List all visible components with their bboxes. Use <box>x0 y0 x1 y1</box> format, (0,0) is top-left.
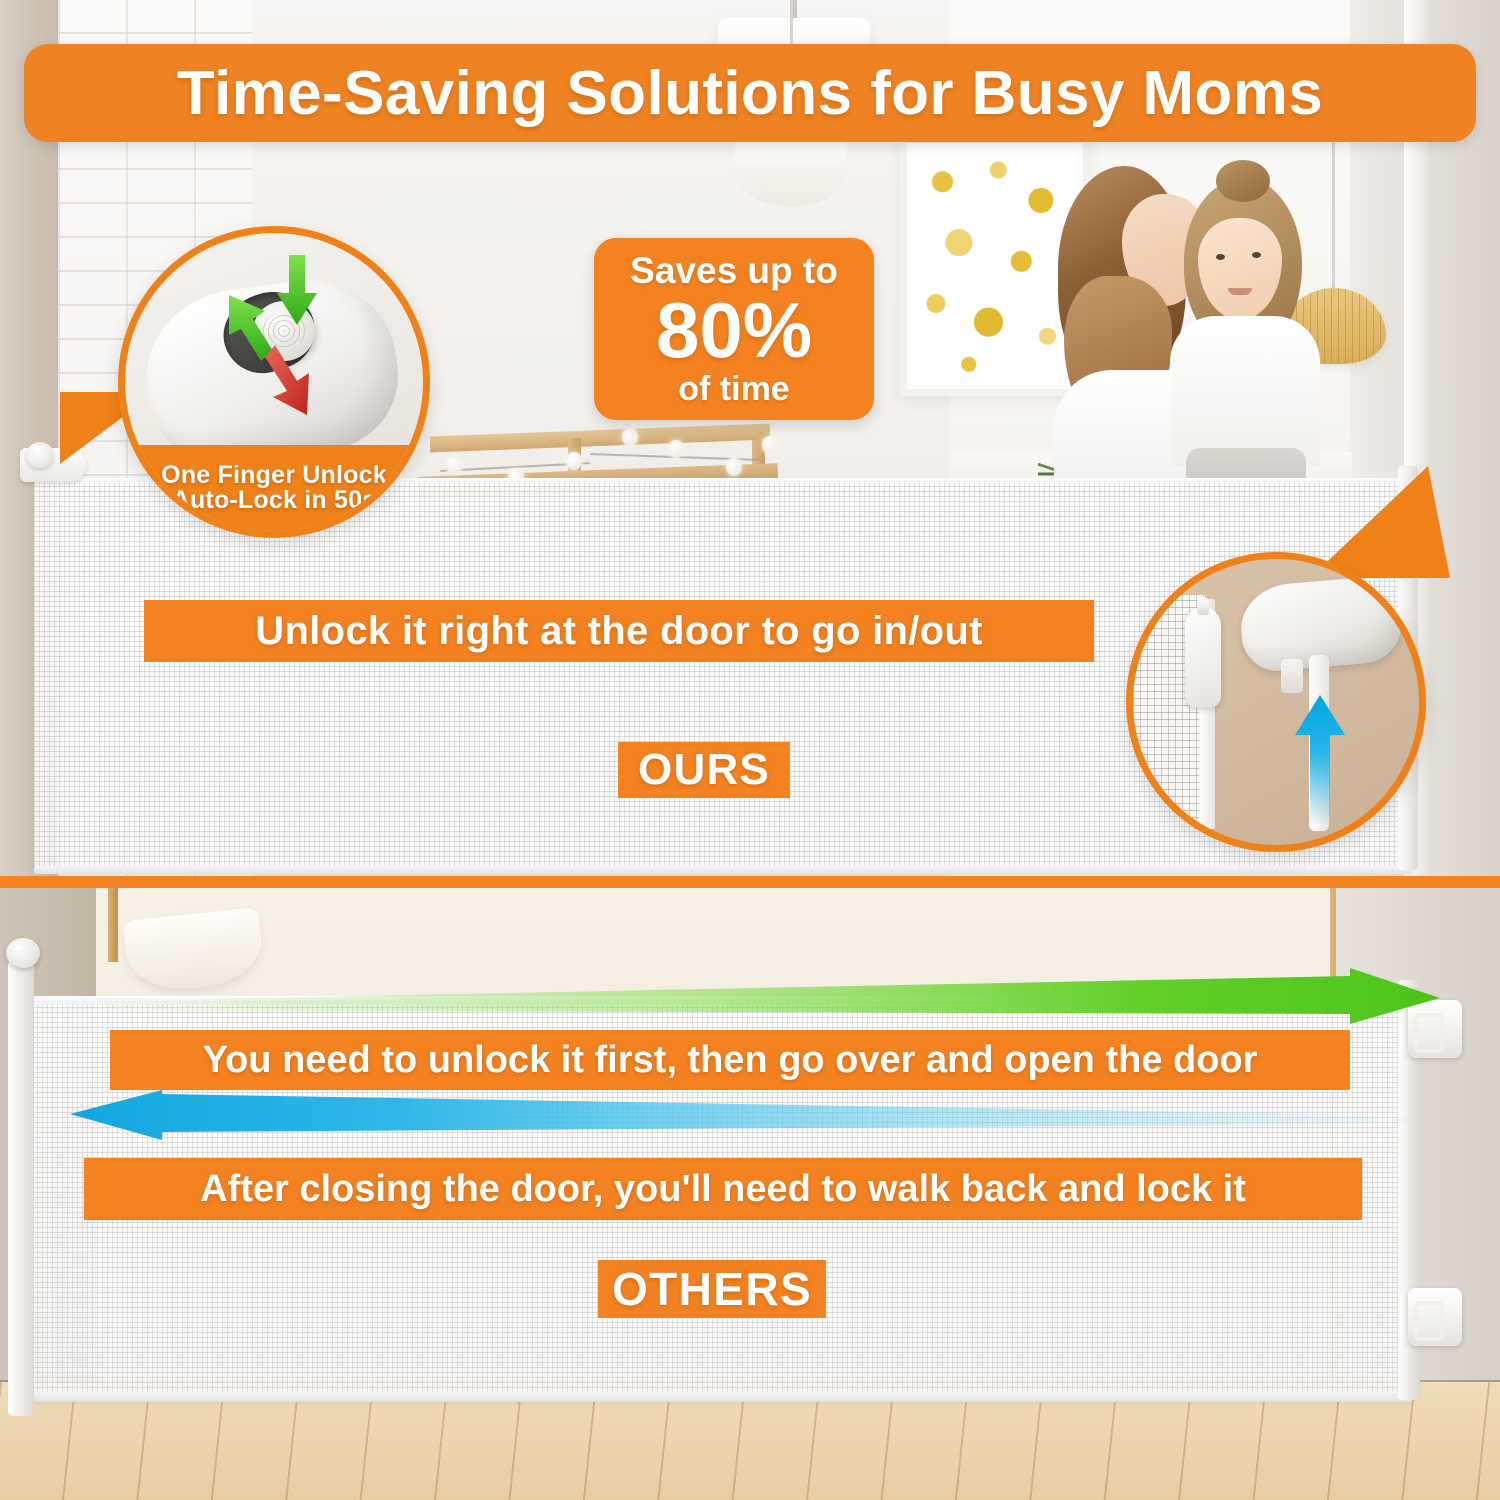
one-finger-unlock-callout: One Finger Unlock Auto-Lock in 50s <box>118 226 430 538</box>
lock-callout-line1: One Finger Unlock <box>161 463 387 489</box>
savings-badge-bottom: of time <box>678 372 789 406</box>
others-gate-bottom-rail <box>22 1392 1412 1402</box>
child-shirt <box>1170 316 1320 466</box>
blue-arrow-left-icon <box>70 1090 1440 1156</box>
infographic-canvas: One Finger Unlock Auto-Lock in 50s Saves… <box>0 0 1500 1500</box>
others-step1-banner: You need to unlock it first, then go ove… <box>110 1030 1350 1090</box>
gate-knob-left <box>26 442 54 468</box>
gate-bottom-rail <box>34 866 1412 874</box>
child-eye-right <box>1252 252 1261 258</box>
savings-badge: Saves up to 80% of time <box>594 238 874 420</box>
ours-benefit-text: Unlock it right at the door to go in/out <box>255 609 982 654</box>
second-pendant-lamp-icon <box>735 140 847 206</box>
latch-tab <box>1281 659 1303 693</box>
latch-cap <box>1185 607 1221 707</box>
string-light-bulb <box>566 452 582 470</box>
family-photo <box>1020 148 1350 508</box>
ours-label-text: OURS <box>638 745 770 795</box>
string-light-bulb <box>726 458 742 476</box>
latch-pin <box>1197 597 1209 615</box>
others-label-banner: OTHERS <box>598 1260 826 1318</box>
page-title: Time-Saving Solutions for Busy Moms <box>177 58 1323 129</box>
blue-arrow-left-container <box>70 1090 1440 1156</box>
lock-button-knob <box>253 301 315 361</box>
others-gate-post-left <box>8 960 34 1416</box>
others-step2-text: After closing the door, you'll need to w… <box>200 1168 1246 1211</box>
others-step2-banner: After closing the door, you'll need to w… <box>84 1158 1362 1220</box>
string-light-bulb <box>762 436 778 454</box>
page-title-banner: Time-Saving Solutions for Busy Moms <box>24 44 1476 142</box>
others-gate-latch-bottom <box>1408 1288 1462 1346</box>
others-gate-knob-left <box>6 938 40 968</box>
latch-detail-callout <box>1126 552 1426 852</box>
others-label-text: OTHERS <box>612 1262 812 1316</box>
child-mouth <box>1228 288 1252 295</box>
green-arrow-right-container <box>60 968 1440 1034</box>
lock-callout-caption: One Finger Unlock Auto-Lock in 50s <box>125 445 423 531</box>
savings-badge-value: 80% <box>656 290 812 372</box>
green-arrow-right-icon <box>60 968 1440 1034</box>
latch-callout-pointer <box>1310 466 1450 578</box>
child-hair-bun <box>1216 160 1270 202</box>
string-light-bulb <box>446 456 462 474</box>
string-light-bulb <box>668 440 684 458</box>
others-step1-text: You need to unlock it first, then go ove… <box>203 1039 1258 1082</box>
child-eye-left <box>1216 254 1225 260</box>
section-divider <box>0 876 1500 888</box>
ours-label-banner: OURS <box>618 742 790 798</box>
wall-lamp-arm <box>108 888 118 962</box>
savings-badge-top: Saves up to <box>630 252 838 289</box>
ours-benefit-banner: Unlock it right at the door to go in/out <box>144 600 1094 662</box>
lock-callout-line2: Auto-Lock in 50s <box>172 488 377 514</box>
blue-arrow-up-icon <box>1295 695 1345 825</box>
string-light-bulb <box>622 428 638 446</box>
